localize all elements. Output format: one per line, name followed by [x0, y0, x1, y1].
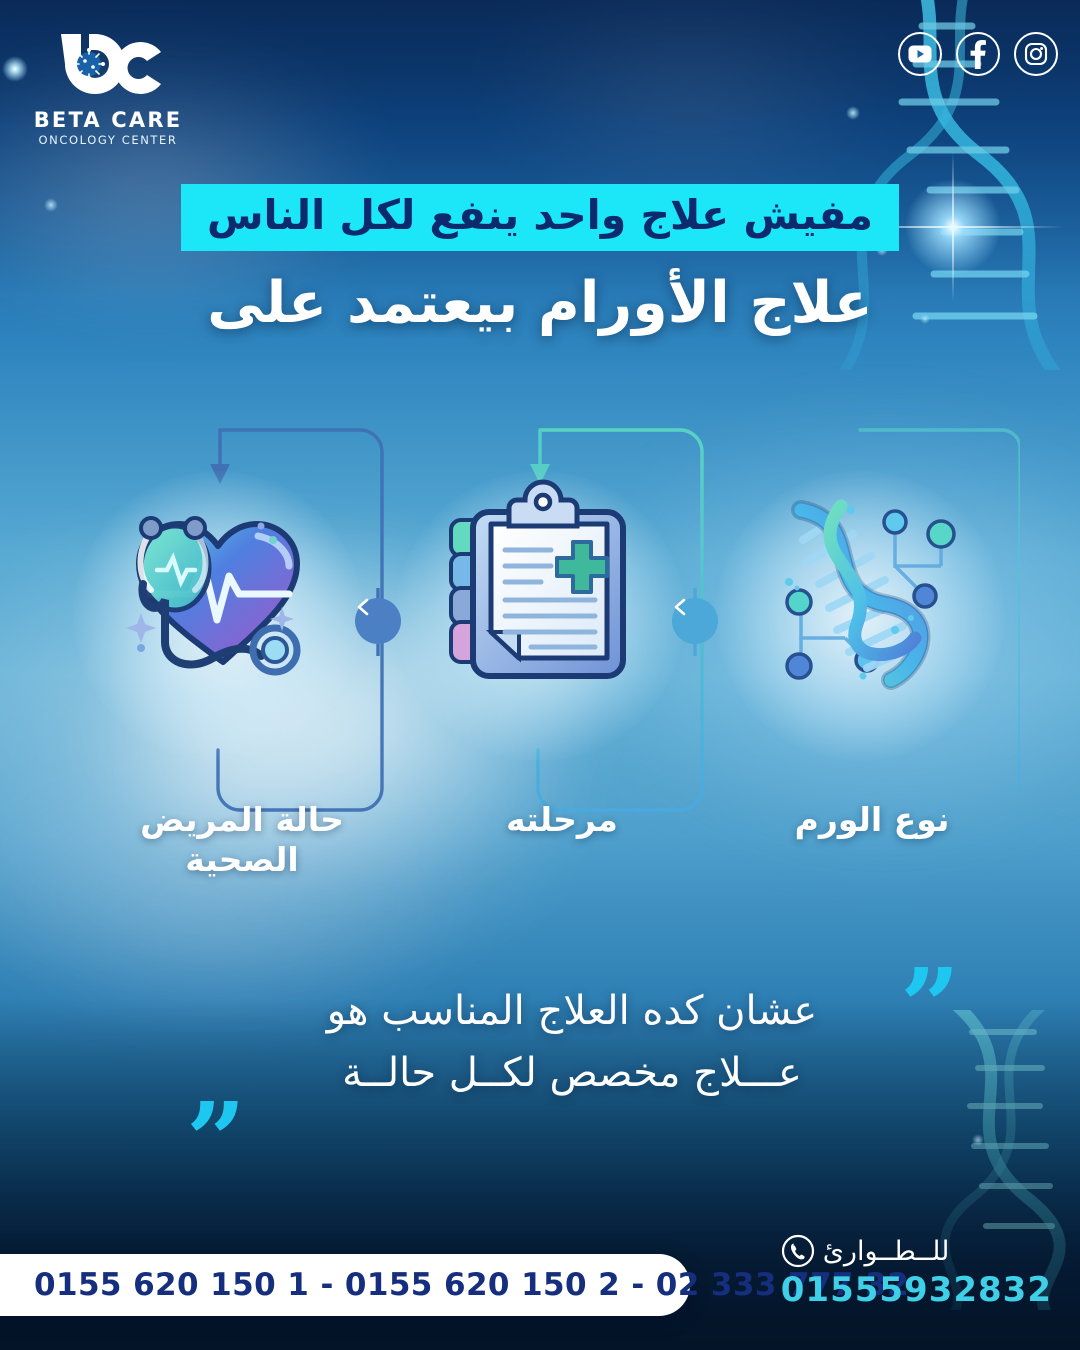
flow-labels: نوع الورم مرحلته حالة المريض الصحية [60, 800, 1020, 910]
quote-block: ” عشان كده العلاج المناسب هو عـــلاج مخص… [120, 940, 960, 1170]
social-links [898, 32, 1058, 76]
chevron-left-icon [355, 598, 373, 616]
sparkle [846, 106, 860, 120]
medical-clipboard-icon [435, 466, 645, 696]
poster-canvas: BETA CARE ONCOLOGY CENTER مفيش علاج واحد… [0, 0, 1080, 1350]
emergency-contact: للــطــوارئ 01555932832 [781, 1234, 1052, 1310]
headline-block: مفيش علاج واحد ينفع لكل الناس علاج الأور… [0, 184, 1080, 336]
chevron-left-icon [672, 598, 690, 616]
brand-name: BETA CARE [28, 110, 188, 131]
flow-diagram [60, 420, 1020, 820]
social-link-youtube[interactable] [898, 32, 942, 76]
quote-line-1: عشان كده العلاج المناسب هو [222, 980, 922, 1042]
dna-helix-icon [745, 466, 975, 696]
contact-phone-numbers: 0155 620 150 1 - 0155 620 150 2 - 02 333… [34, 1267, 909, 1303]
flow-label-patient-condition: حالة المريض الصحية [92, 800, 392, 881]
emergency-number: 01555932832 [781, 1270, 1052, 1310]
contact-bar: 0155 620 150 1 - 0155 620 150 2 - 02 333… [0, 1254, 690, 1316]
social-link-facebook[interactable] [956, 32, 1000, 76]
quote-text: عشان كده العلاج المناسب هو عـــلاج مخصص … [222, 980, 922, 1104]
quote-close-mark: ” [186, 1110, 246, 1172]
flow-icon-stage [390, 466, 690, 766]
flow-connector-left[interactable] [355, 598, 401, 644]
flow-label-stage: مرحلته [422, 800, 702, 840]
headline-highlight: مفيش علاج واحد ينفع لكل الناس [181, 184, 899, 251]
sparkle [972, 1134, 984, 1146]
headline-main: علاج الأورام بيعتمد على [0, 271, 1080, 336]
emergency-label: للــطــوارئ [823, 1236, 950, 1267]
brand-subtitle: ONCOLOGY CENTER [28, 135, 188, 147]
sparkle [2, 56, 28, 82]
instagram-icon [1024, 42, 1048, 66]
quote-line-2: عـــلاج مخصص لكــل حالــة [222, 1042, 922, 1104]
flow-icon-tumor-type [710, 466, 1010, 766]
flow-label-tumor-type: نوع الورم [732, 800, 1012, 840]
flow-connector-right[interactable] [672, 598, 718, 644]
emergency-label-row: للــطــوارئ [781, 1234, 1052, 1268]
social-link-instagram[interactable] [1014, 32, 1058, 76]
brand-logo[interactable]: BETA CARE ONCOLOGY CENTER [28, 30, 188, 147]
bc-monogram-virus-icon [49, 30, 167, 106]
facebook-icon [969, 39, 987, 69]
flow-icon-patient-condition [68, 466, 368, 766]
heart-stethoscope-icon [103, 466, 333, 696]
youtube-icon [908, 45, 932, 63]
phone-circle-icon[interactable] [781, 1234, 815, 1268]
